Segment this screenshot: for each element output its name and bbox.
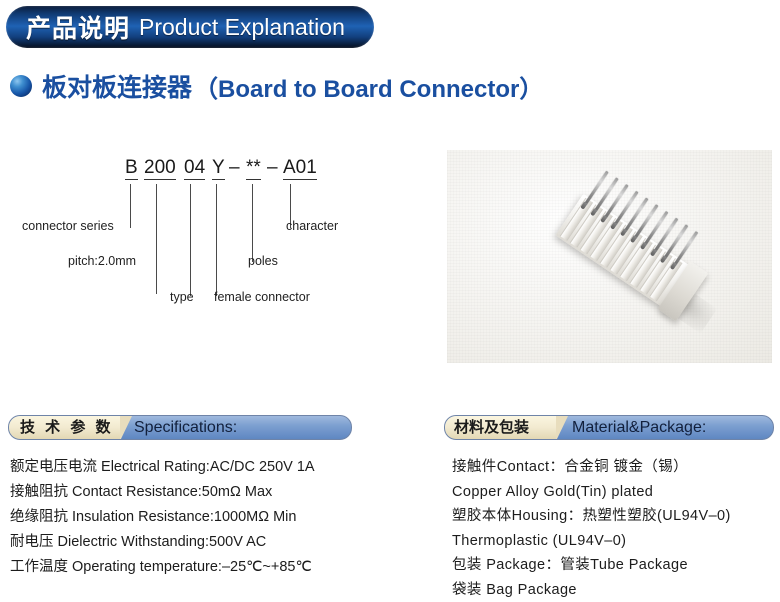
pn-label-pitch: pitch:2.0mm <box>68 254 136 268</box>
specifications-title-en: Specifications: <box>134 415 237 440</box>
leader-line-pitch <box>156 184 157 294</box>
pn-segment-character: A01 <box>283 158 317 180</box>
part-number-code: B 200 04 Y – ** – A01 <box>20 158 420 184</box>
material-row: 塑胶本体Housing：热塑性塑胶(UL94V–0) <box>452 504 780 529</box>
section-header-specifications: 技 术 参 数 Specifications: <box>8 415 352 440</box>
material-title-cn: 材料及包装 <box>454 415 529 440</box>
pn-segment-poles: ** <box>246 158 261 180</box>
pn-label-female-connector: female connector <box>214 290 310 304</box>
spec-row: 接触阻抗 Contact Resistance:50mΩ Max <box>10 480 430 505</box>
leader-line-type <box>190 184 191 296</box>
leader-line-series <box>130 184 131 228</box>
pn-segment-type: 04 <box>184 158 205 180</box>
spec-row: 耐电压 Dielectric Withstanding:500V AC <box>10 530 430 555</box>
material-package-list: 接触件Contact：合金铜 镀金（锡） Copper Alloy Gold(T… <box>452 455 780 602</box>
blue-sphere-bullet-icon <box>10 75 32 97</box>
pn-label-connector-series: connector series <box>22 219 114 233</box>
pn-segment-pitch: 200 <box>144 158 176 180</box>
material-row: 包装 Package：管装Tube Package <box>452 553 780 578</box>
banner-title-en: Product Explanation <box>139 14 345 41</box>
pn-label-poles: poles <box>248 254 278 268</box>
section-header-material-package: 材料及包装 Material&Package: <box>444 415 774 440</box>
connector-pin <box>584 171 609 206</box>
product-title: 板对板连接器 （Board to Board Connector） <box>10 68 543 104</box>
spec-row: 额定电压电流 Electrical Rating:AC/DC 250V 1A <box>10 455 430 480</box>
specifications-title-cn: 技 术 参 数 <box>20 415 114 440</box>
material-row: 袋装 Bag Package <box>452 578 780 602</box>
product-name-cn: 板对板连接器 <box>42 68 192 104</box>
part-number-diagram: B 200 04 Y – ** – A01 connector series p… <box>20 150 420 350</box>
material-row: Thermoplastic (UL94V–0) <box>452 529 780 554</box>
page-banner: 产品说明 Product Explanation <box>6 6 374 48</box>
leader-line-poles <box>252 184 253 262</box>
pn-separator-2: – <box>267 158 278 178</box>
spec-row: 工作温度 Operating temperature:–25℃~+85℃ <box>10 555 430 580</box>
product-photo <box>447 150 772 363</box>
banner-title-cn: 产品说明 <box>26 9 130 45</box>
pn-label-character: character <box>286 219 338 233</box>
pn-segment-series: B <box>125 158 138 180</box>
pn-segment-gender: Y <box>212 158 225 180</box>
pn-label-type: type <box>170 290 194 304</box>
material-title-en: Material&Package: <box>572 415 706 440</box>
product-name-en: （Board to Board Connector） <box>194 69 543 104</box>
material-row: Copper Alloy Gold(Tin) plated <box>452 480 780 505</box>
material-row: 接触件Contact：合金铜 镀金（锡） <box>452 455 780 480</box>
pn-separator-1: – <box>229 158 240 178</box>
leader-line-gender <box>216 184 217 296</box>
spec-row: 绝缘阻抗 Insulation Resistance:1000MΩ Min <box>10 505 430 530</box>
specifications-list: 额定电压电流 Electrical Rating:AC/DC 250V 1A 接… <box>10 455 430 580</box>
